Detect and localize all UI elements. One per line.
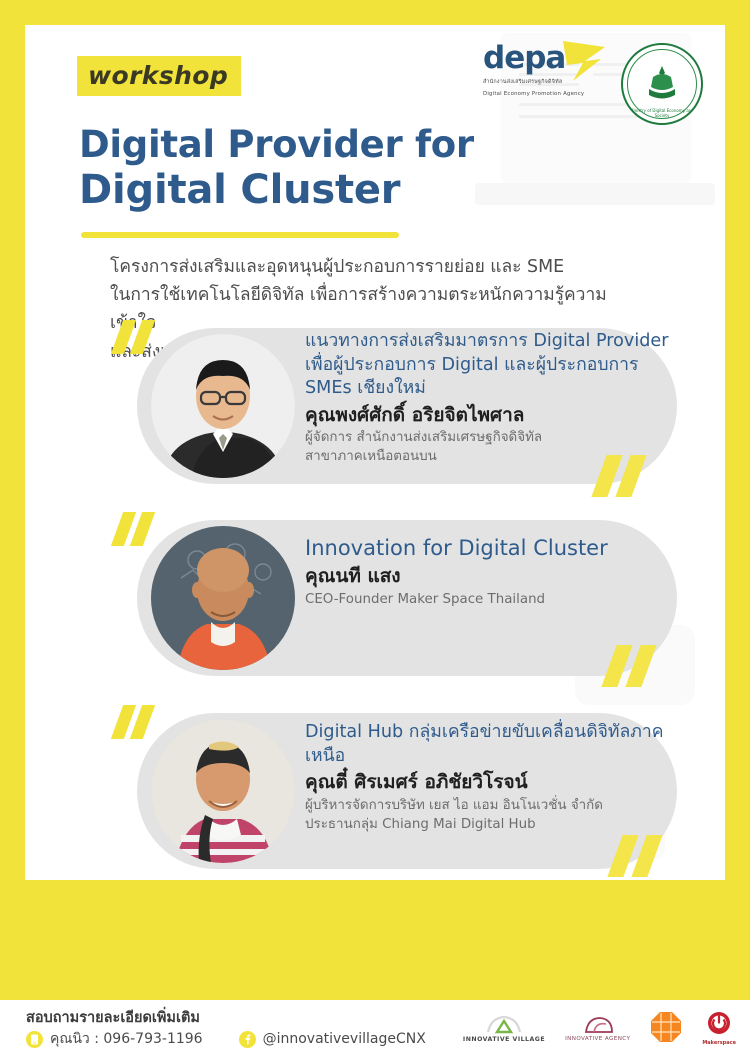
speaker-topic-1-line-1: แนวทางการส่งเสริมมาตรการ Digital Provide… [305, 330, 680, 354]
contact-facebook[interactable]: @innovativevillageCNX [239, 1031, 426, 1048]
partner-innovative-village: INNOVATIVE VILLAGE [463, 1012, 545, 1043]
partner-logos: INNOVATIVE VILLAGE INNOVATIVE AGENCY [463, 1008, 736, 1046]
speaker-text-3: Digital Hub กลุ่มเครือข่ายขับเคลื่อนดิจิ… [305, 721, 680, 834]
event-details-band: Scan QR Code ลงทะเบียนออนไลน์ วันอังคารท… [0, 880, 750, 1000]
speaker-photo-1 [151, 334, 295, 478]
depa-swoosh-icon [561, 39, 609, 83]
watermark-laptop-base [475, 183, 715, 205]
ministry-seal-text: Ministry of Digital Economy and Society [623, 108, 701, 118]
speaker-role-2-line-1: CEO-Founder Maker Space Thailand [305, 590, 680, 609]
innovative-village-icon [478, 1012, 530, 1034]
title-underline [81, 232, 399, 238]
depa-english-name: Digital Economy Promotion Agency [483, 90, 611, 98]
facebook-label: @innovativevillageCNX [263, 1031, 426, 1047]
quote-mark-icon [613, 835, 663, 877]
page-title: Digital Provider for Digital Cluster [79, 123, 474, 214]
poster-white-panel: depa สำนักงานส่งเสริมเศรษฐกิจดิจิทัล Dig… [25, 25, 725, 880]
partner-label-1: INNOVATIVE VILLAGE [463, 1036, 545, 1043]
footer-title: สอบถามรายละเอียดเพิ่มเติม [26, 1006, 200, 1029]
footer-contacts: คุณนิว : 096-793-1196 @innovativevillage… [26, 1028, 462, 1050]
speaker-photo-2 [151, 526, 295, 670]
speaker-topic-1-line-3: SMEs เชียงใหม่ [305, 377, 680, 401]
quote-mark-icon [607, 645, 657, 687]
phone-icon [26, 1031, 43, 1048]
partner-orange-octagon [650, 1011, 682, 1043]
speaker-role-1-line-1: ผู้จัดการ สำนักงานส่งเสริมเศรษฐกิจดิจิทั… [305, 428, 680, 447]
speaker-text-1: แนวทางการส่งเสริมมาตรการ Digital Provide… [305, 330, 680, 466]
makerspace-gear-icon [704, 1008, 734, 1038]
speaker-role-3-line-2: ประธานกลุ่ม Chiang Mai Digital Hub [305, 815, 680, 834]
partner-innovative-agency: INNOVATIVE AGENCY [565, 1012, 630, 1042]
phone-label: คุณนิว : 096-793-1196 [50, 1028, 203, 1050]
partner-label-4: Makerspace [702, 1040, 736, 1046]
poster: depa สำนักงานส่งเสริมเศรษฐกิจดิจิทัล Dig… [0, 0, 750, 1061]
ministry-seal-logo: Ministry of Digital Economy and Society [621, 43, 703, 125]
speaker-card-2: Innovation for Digital Cluster คุณนที แส… [115, 512, 675, 682]
facebook-icon [239, 1031, 256, 1048]
description-line-1: โครงการส่งเสริมและอุดหนุนผู้ประกอบการราย… [110, 253, 640, 281]
contact-phone[interactable]: คุณนิว : 096-793-1196 [26, 1028, 203, 1050]
speaker-name-2: คุณนที แสง [305, 563, 680, 590]
partner-label-2: INNOVATIVE AGENCY [565, 1036, 630, 1042]
depa-logo: depa สำนักงานส่งเสริมเศรษฐกิจดิจิทัล Dig… [483, 43, 611, 98]
orange-octagon-icon [650, 1011, 682, 1043]
speaker-topic-1-line-2: เพื่อผู้ประกอบการ Digital และผู้ประกอบกา… [305, 354, 680, 378]
innovative-agency-icon [572, 1012, 624, 1034]
speaker-name-1: คุณพงศ์ศักดิ์ อริยจิตไพศาล [305, 402, 680, 429]
speaker-photo-3 [151, 719, 295, 863]
workshop-badge-label: workshop [88, 61, 228, 90]
speaker-name-3: คุณตี๋ ศิรเมศร์ อภิชัยวิโรจน์ [305, 769, 680, 796]
quote-mark-icon [115, 512, 155, 546]
title-line-1: Digital Provider for [79, 123, 474, 167]
logo-group: depa สำนักงานส่งเสริมเศรษฐกิจดิจิทัล Dig… [483, 43, 703, 125]
speaker-topic-3-line-1: Digital Hub กลุ่มเครือข่ายขับเคลื่อนดิจิ… [305, 721, 680, 768]
quote-mark-icon [597, 455, 647, 497]
quote-mark-icon [115, 705, 155, 739]
speaker-text-2: Innovation for Digital Cluster คุณนที แส… [305, 534, 680, 609]
workshop-badge: workshop [77, 56, 241, 96]
ministry-deity-icon [645, 65, 679, 103]
quote-mark-icon [115, 320, 155, 354]
footer: สอบถามรายละเอียดเพิ่มเติม คุณนิว : 096-7… [0, 1000, 750, 1061]
title-line-2: Digital Cluster [79, 167, 474, 214]
speaker-card-3: Digital Hub กลุ่มเครือข่ายขับเคลื่อนดิจิ… [115, 705, 675, 875]
partner-makerspace: Makerspace [702, 1008, 736, 1046]
speaker-topic-2-line-1: Innovation for Digital Cluster [305, 534, 680, 562]
speaker-card-1: แนวทางการส่งเสริมมาตรการ Digital Provide… [115, 320, 675, 490]
speaker-role-3-line-1: ผู้บริหารจัดการบริษัท เยส ไอ แอม อินโนเว… [305, 796, 680, 815]
